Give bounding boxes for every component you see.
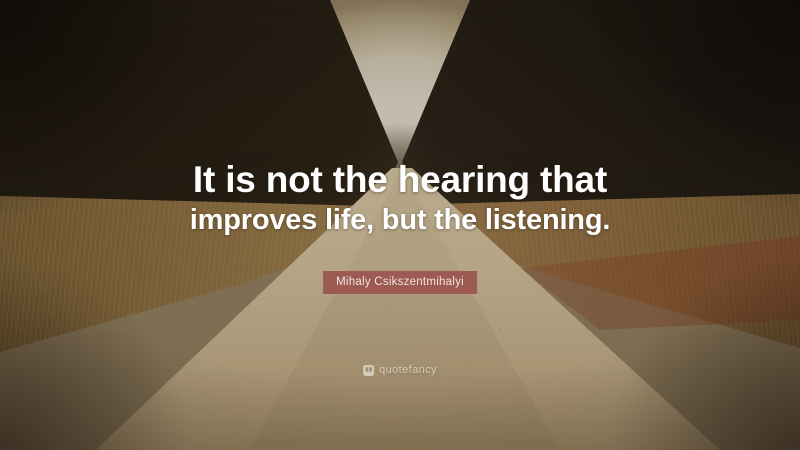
quote-mark-icon bbox=[363, 365, 374, 376]
watermark-brand: quotefancy bbox=[379, 364, 437, 376]
quote-image: It is not the hearing that improves life… bbox=[0, 0, 800, 450]
watermark: quotefancy bbox=[363, 364, 437, 376]
quote-line-2: improves life, but the listening. bbox=[0, 201, 800, 239]
quote-line-1: It is not the hearing that bbox=[0, 158, 800, 201]
author-badge: Mihaly Csikszentmihalyi bbox=[323, 271, 477, 294]
quote-text-block: It is not the hearing that improves life… bbox=[0, 158, 800, 239]
